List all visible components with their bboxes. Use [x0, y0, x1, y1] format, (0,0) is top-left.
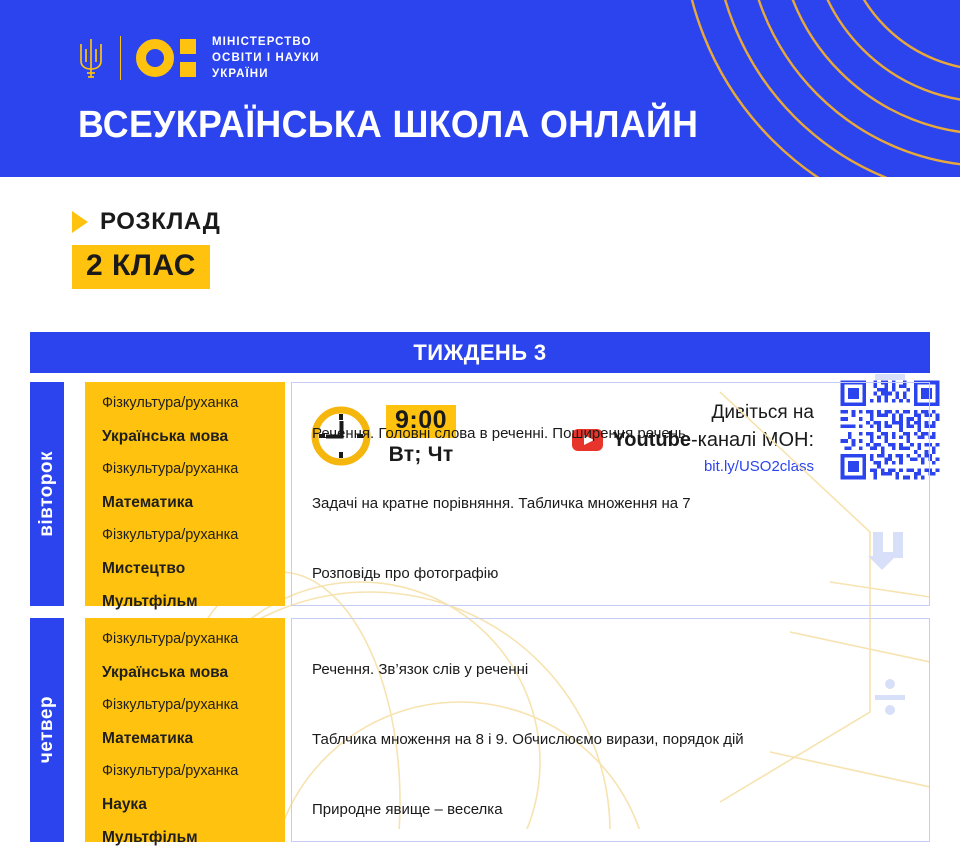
info-strip: РОЗКЛАД 2 КЛАС 9:00 Вт; Чт Дивіться на — [0, 177, 960, 329]
topic-item: Речення. Зв’язок слів у реченні — [312, 662, 929, 677]
day-name: четвер — [36, 696, 58, 763]
subject-item: Мультфільм — [102, 594, 285, 610]
subject-item: Математика — [102, 731, 285, 747]
subject-item: Фізкультура/руханка — [102, 462, 285, 477]
subject-item: Фізкультура/руханка — [102, 528, 285, 543]
schedule-table: ТИЖДЕНЬ 3 вівторок Фізкультура/руханка У… — [30, 332, 930, 829]
logo-divider — [120, 36, 121, 80]
topic-item: Таблчика множення на 8 і 9. Обчислюємо в… — [312, 732, 929, 747]
table-row: вівторок Фізкультура/руханка Українська … — [30, 382, 930, 606]
ministry-line-3: УКРАЇНИ — [212, 66, 320, 82]
page-header: МІНІСТЕРСТВО ОСВІТИ І НАУКИ УКРАЇНИ ВСЕУ… — [0, 0, 960, 177]
ministry-line-2: ОСВІТИ І НАУКИ — [212, 50, 320, 66]
schedule-heading-block: РОЗКЛАД 2 КЛАС — [72, 207, 220, 289]
day-label-tab: вівторок — [30, 382, 64, 606]
decorative-arcs — [560, 0, 960, 177]
subjects-cell: Фізкультура/руханка Українська мова Фізк… — [85, 382, 285, 606]
schedule-label: РОЗКЛАД — [100, 208, 220, 236]
subject-item: Фізкультура/руханка — [102, 632, 285, 647]
subject-item: Фізкультура/руханка — [102, 396, 285, 411]
ministry-name: МІНІСТЕРСТВО ОСВІТИ І НАУКИ УКРАЇНИ — [212, 34, 320, 83]
day-label-tab: четвер — [30, 618, 64, 842]
topic-item: Речення. Головні слова в реченні. Пошире… — [312, 426, 929, 441]
subject-item: Наука — [102, 797, 285, 813]
week-title-bar: ТИЖДЕНЬ 3 — [30, 332, 930, 373]
page-title: ВСЕУКРАЇНСЬКА ШКОЛА ОНЛАЙН — [78, 104, 698, 147]
topics-cell: Речення. Головні слова в реченні. Пошире… — [291, 382, 930, 606]
ministry-line-1: МІНІСТЕРСТВО — [212, 34, 320, 50]
topic-item: Задачі на кратне порівняння. Табличка мн… — [312, 496, 929, 511]
subject-item: Фізкультура/руханка — [102, 698, 285, 713]
ministry-logo: МІНІСТЕРСТВО ОСВІТИ І НАУКИ УКРАЇНИ — [78, 33, 320, 83]
trident-icon — [78, 35, 104, 81]
subject-item: Мультфільм — [102, 830, 285, 846]
ministry-o-icon — [136, 38, 196, 78]
table-row: четвер Фізкультура/руханка Українська мо… — [30, 618, 930, 842]
subject-item: Українська мова — [102, 665, 285, 681]
topics-cell: Речення. Зв’язок слів у реченні Таблчика… — [291, 618, 930, 842]
subjects-cell: Фізкультура/руханка Українська мова Фізк… — [85, 618, 285, 842]
subject-item: Фізкультура/руханка — [102, 764, 285, 779]
play-triangle-icon — [72, 211, 88, 233]
page-root: МІНІСТЕРСТВО ОСВІТИ І НАУКИ УКРАЇНИ ВСЕУ… — [0, 0, 960, 854]
day-name: вівторок — [36, 451, 58, 537]
topic-item: Розповідь про фотографію — [312, 566, 929, 581]
subject-item: Мистецтво — [102, 561, 285, 577]
topic-item: Природне явище – веселка — [312, 802, 929, 817]
subject-item: Математика — [102, 495, 285, 511]
class-badge: 2 КЛАС — [72, 245, 210, 289]
subject-item: Українська мова — [102, 429, 285, 445]
